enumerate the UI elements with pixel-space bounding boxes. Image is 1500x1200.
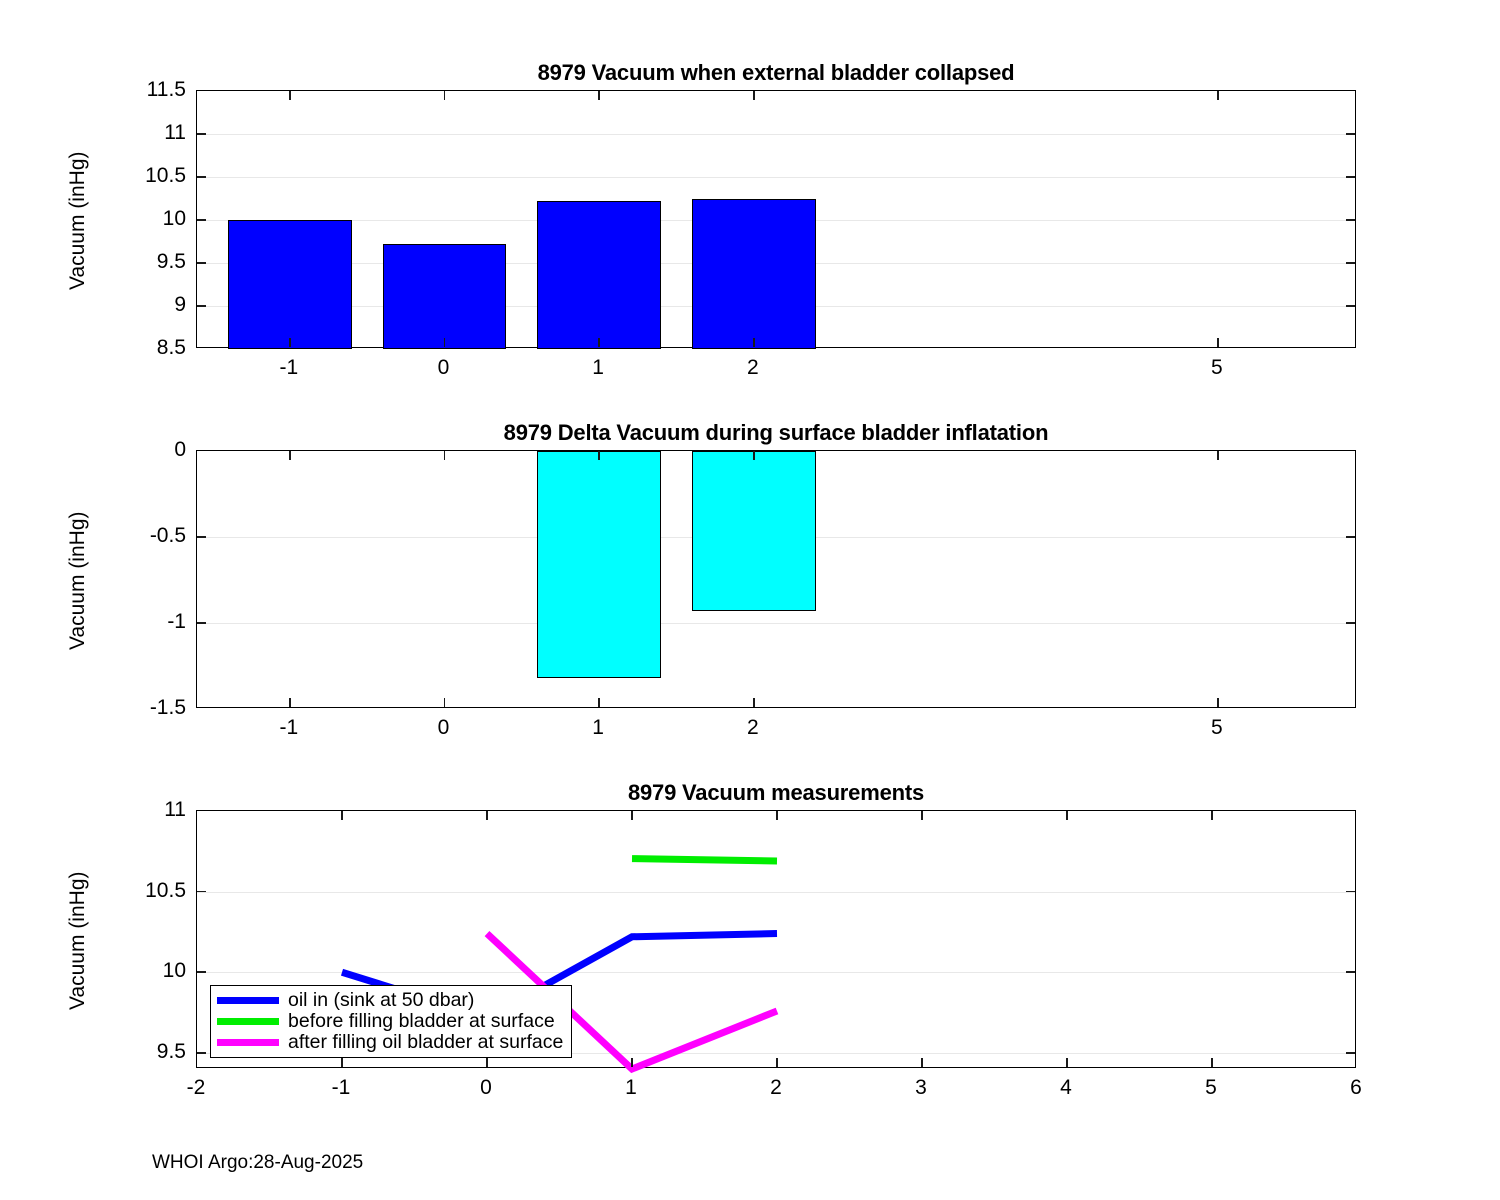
x-tick-mark: [1211, 1058, 1213, 1067]
x-axis-tick-label: 2: [770, 1076, 782, 1100]
x-axis-tick-label: 0: [438, 716, 450, 740]
chart-legend[interactable]: oil in (sink at 50 dbar)before filling b…: [210, 985, 572, 1058]
x-axis-tick-label: 0: [480, 1076, 492, 1100]
x-tick-mark: [776, 1058, 778, 1067]
plot-area-1: [196, 90, 1356, 348]
bar: [692, 451, 816, 611]
data-series-line: [632, 859, 777, 861]
x-tick-mark: [753, 451, 755, 460]
x-axis-tick-label: 5: [1211, 356, 1223, 380]
y-tick-mark: [1346, 622, 1355, 624]
x-axis-tick-label: 1: [592, 356, 604, 380]
bar: [228, 220, 352, 349]
x-tick-mark: [1066, 1058, 1068, 1067]
legend-item[interactable]: after filling oil bladder at surface: [217, 1032, 563, 1053]
bar: [537, 451, 661, 678]
y-tick-mark: [1346, 891, 1355, 893]
gridline-horizontal: [197, 177, 1355, 178]
x-axis-tick-label: -1: [332, 1076, 351, 1100]
x-axis-tick-label: -1: [279, 356, 298, 380]
x-axis-tick-label: -1: [279, 716, 298, 740]
x-axis-tick-label: 2: [747, 356, 759, 380]
legend-item[interactable]: oil in (sink at 50 dbar): [217, 990, 563, 1011]
y-axis-tick-label: 10.5: [92, 164, 186, 188]
x-tick-mark: [753, 338, 755, 347]
y-tick-mark: [1346, 176, 1355, 178]
y-tick-mark: [1346, 305, 1355, 307]
x-tick-mark: [289, 698, 291, 707]
chart-title-3: 8979 Vacuum measurements: [196, 780, 1356, 806]
x-tick-mark: [444, 91, 446, 100]
x-tick-mark: [289, 338, 291, 347]
y-tick-mark: [1346, 536, 1355, 538]
y-axis-tick-label: -1.5: [92, 696, 186, 720]
x-tick-mark: [631, 1058, 633, 1067]
x-tick-mark: [486, 811, 488, 820]
y-tick-mark: [1346, 262, 1355, 264]
y-tick-mark: [197, 1052, 206, 1054]
y-axis-tick-label: 10: [92, 207, 186, 231]
y-tick-mark: [197, 133, 206, 135]
y-axis-label-3: Vacuum (inHg): [66, 872, 90, 1011]
y-axis-tick-label: 8.5: [92, 336, 186, 360]
legend-color-swatch: [217, 1018, 279, 1025]
x-axis-tick-label: 3: [915, 1076, 927, 1100]
x-axis-tick-label: 4: [1060, 1076, 1072, 1100]
bar: [383, 244, 507, 349]
legend-color-swatch: [217, 1039, 279, 1046]
y-tick-mark: [197, 305, 206, 307]
x-tick-mark: [921, 811, 923, 820]
panel-vacuum-measurements: 8979 Vacuum measurements 9.51010.511 -2-…: [196, 780, 1356, 1110]
x-tick-mark: [776, 811, 778, 820]
footer-credit: WHOI Argo:28-Aug-2025: [152, 1152, 363, 1174]
y-tick-mark: [197, 622, 206, 624]
x-tick-mark: [341, 811, 343, 820]
x-tick-mark: [341, 1058, 343, 1067]
x-tick-mark: [753, 698, 755, 707]
x-tick-mark: [753, 91, 755, 100]
x-axis-tick-label: 1: [592, 716, 604, 740]
chart-title-1: 8979 Vacuum when external bladder collap…: [196, 60, 1356, 86]
x-tick-mark: [1217, 91, 1219, 100]
x-tick-mark: [598, 91, 600, 100]
x-tick-mark: [289, 91, 291, 100]
plot-area-2: [196, 450, 1356, 708]
y-tick-mark: [197, 891, 206, 893]
bar: [537, 201, 661, 349]
x-tick-mark: [921, 1058, 923, 1067]
x-axis-tick-label: 2: [747, 716, 759, 740]
y-tick-mark: [1346, 1052, 1355, 1054]
x-tick-mark: [1217, 338, 1219, 347]
x-axis-tick-label: 1: [625, 1076, 637, 1100]
x-tick-mark: [444, 338, 446, 347]
bar: [692, 199, 816, 349]
gridline-horizontal: [197, 623, 1355, 624]
y-tick-mark: [197, 536, 206, 538]
legend-label: oil in (sink at 50 dbar): [288, 991, 474, 1010]
x-tick-mark: [598, 451, 600, 460]
x-tick-mark: [444, 698, 446, 707]
y-axis-tick-label: 0: [92, 438, 186, 462]
x-tick-mark: [1217, 698, 1219, 707]
y-tick-mark: [197, 971, 206, 973]
y-axis-tick-label: -1: [92, 610, 186, 634]
x-tick-mark: [598, 698, 600, 707]
x-axis-tick-label: 5: [1205, 1076, 1217, 1100]
x-tick-mark: [631, 811, 633, 820]
legend-label: before filling bladder at surface: [288, 1012, 555, 1031]
x-axis-tick-label: 5: [1211, 716, 1223, 740]
y-tick-mark: [1346, 971, 1355, 973]
x-tick-mark: [289, 451, 291, 460]
y-axis-tick-label: 11.5: [92, 78, 186, 102]
y-axis-tick-label: 9.5: [92, 250, 186, 274]
y-tick-mark: [1346, 133, 1355, 135]
x-tick-mark: [1211, 811, 1213, 820]
y-tick-mark: [197, 176, 206, 178]
y-axis-tick-label: 10: [92, 959, 186, 983]
y-axis-tick-label: -0.5: [92, 524, 186, 548]
x-axis-tick-label: -2: [187, 1076, 206, 1100]
panel-delta-vacuum: 8979 Delta Vacuum during surface bladder…: [196, 420, 1356, 750]
legend-item[interactable]: before filling bladder at surface: [217, 1011, 563, 1032]
y-tick-mark: [197, 262, 206, 264]
legend-color-swatch: [217, 997, 279, 1004]
x-axis-tick-label: 6: [1350, 1076, 1362, 1100]
y-axis-label-2: Vacuum (inHg): [66, 512, 90, 651]
y-axis-tick-label: 10.5: [92, 879, 186, 903]
x-tick-mark: [1217, 451, 1219, 460]
chart-title-2: 8979 Delta Vacuum during surface bladder…: [196, 420, 1356, 446]
panel-vacuum-collapsed: 8979 Vacuum when external bladder collap…: [196, 60, 1356, 390]
y-axis-tick-label: 9: [92, 293, 186, 317]
x-axis-tick-label: 0: [438, 356, 450, 380]
y-axis-label-1: Vacuum (inHg): [66, 152, 90, 291]
y-axis-tick-label: 9.5: [92, 1040, 186, 1064]
y-axis-tick-label: 11: [92, 121, 186, 145]
y-tick-mark: [197, 219, 206, 221]
y-tick-mark: [1346, 219, 1355, 221]
legend-label: after filling oil bladder at surface: [288, 1033, 563, 1052]
x-tick-mark: [486, 1058, 488, 1067]
y-axis-tick-label: 11: [92, 798, 186, 822]
x-tick-mark: [444, 451, 446, 460]
gridline-horizontal: [197, 134, 1355, 135]
x-tick-mark: [598, 338, 600, 347]
x-tick-mark: [1066, 811, 1068, 820]
